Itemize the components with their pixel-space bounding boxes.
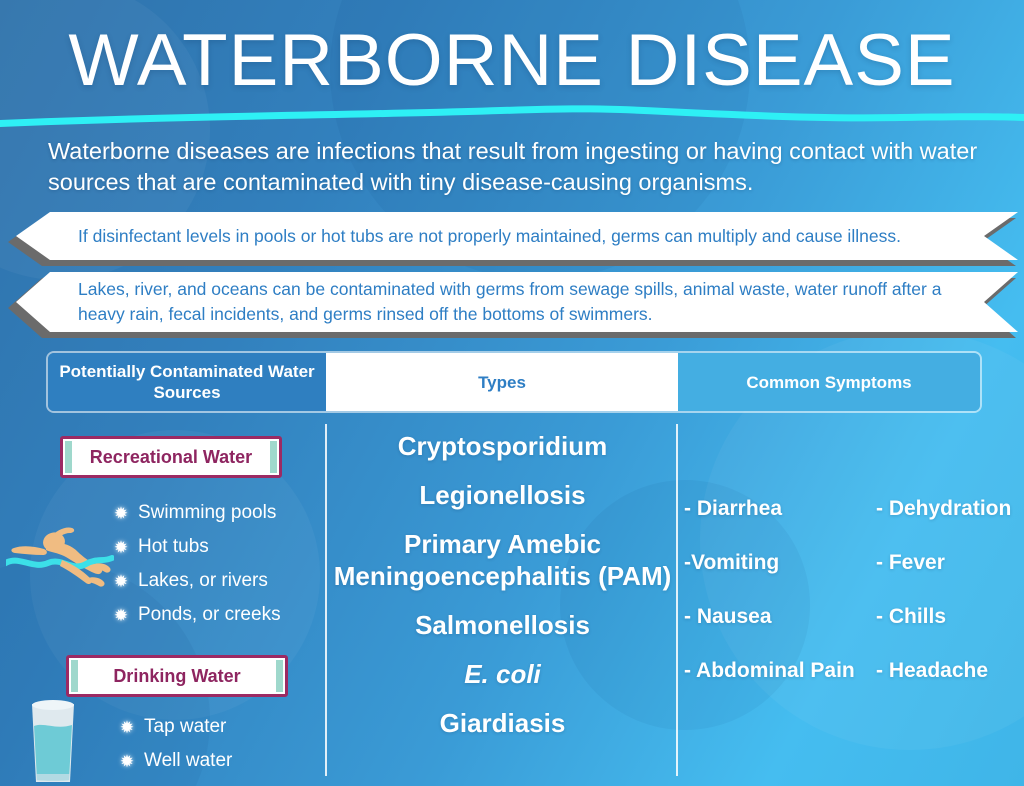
list-item-label: Hot tubs xyxy=(138,530,209,564)
list-item: ✹ Well water xyxy=(118,744,232,778)
arrow-banner-2-text: Lakes, river, and oceans can be contamin… xyxy=(8,272,1016,332)
source-list-drinking: ✹ Tap water ✹ Well water xyxy=(118,710,232,778)
symptom-item: - Dehydration xyxy=(876,496,1024,522)
symptom-item: - Fever xyxy=(876,550,1024,576)
water-glass-icon xyxy=(26,700,80,786)
type-item: E. coli xyxy=(330,658,675,690)
column-divider-right xyxy=(676,424,678,776)
list-item: ✹ Tap water xyxy=(118,710,232,744)
wave-divider-icon xyxy=(0,104,1024,134)
symptom-item: - Chills xyxy=(876,604,1024,630)
symptom-item: - Headache xyxy=(876,658,1024,684)
category-label-text: Recreational Water xyxy=(90,447,252,468)
sparkle-bullet-icon: ✹ xyxy=(112,573,130,590)
category-label-drinking-water: Drinking Water xyxy=(66,655,288,697)
list-item-label: Lakes, or rivers xyxy=(138,564,268,598)
list-item-label: Tap water xyxy=(144,710,226,744)
arrow-banner-1: If disinfectant levels in pools or hot t… xyxy=(8,212,1016,260)
column-divider-left xyxy=(325,424,327,776)
infographic-page: WATERBORNE DISEASE Waterborne diseases a… xyxy=(0,0,1024,786)
type-item: Legionellosis xyxy=(330,479,675,511)
type-item: Cryptosporidium xyxy=(330,430,675,462)
list-item: ✹ Swimming pools xyxy=(112,496,281,530)
arrow-banner-1-text: If disinfectant levels in pools or hot t… xyxy=(8,212,1016,260)
sparkle-bullet-icon: ✹ xyxy=(118,753,136,770)
category-label-recreational-water: Recreational Water xyxy=(60,436,282,478)
list-item-label: Ponds, or creeks xyxy=(138,598,281,632)
list-item: ✹ Ponds, or creeks xyxy=(112,598,281,632)
sparkle-bullet-icon: ✹ xyxy=(112,607,130,624)
table-header-types: Types xyxy=(326,353,678,411)
symptoms-column: - Diarrhea - Dehydration -Vomiting - Fev… xyxy=(684,496,1024,684)
symptom-item: - Nausea xyxy=(684,604,876,630)
type-item: Primary Amebic Meningoencephalitis (PAM) xyxy=(330,528,675,592)
list-item-label: Swimming pools xyxy=(138,496,276,530)
page-title: WATERBORNE DISEASE xyxy=(0,22,1024,100)
category-label-text: Drinking Water xyxy=(113,666,240,687)
table-header-common-symptoms: Common Symptoms xyxy=(678,353,980,411)
type-item: Giardiasis xyxy=(330,707,675,739)
source-list-recreational: ✹ Swimming pools ✹ Hot tubs ✹ Lakes, or … xyxy=(112,496,281,632)
table-header-row: Potentially Contaminated Water Sources T… xyxy=(48,353,980,411)
types-column: Cryptosporidium Legionellosis Primary Am… xyxy=(330,430,675,756)
table-header-water-sources: Potentially Contaminated Water Sources xyxy=(48,353,326,411)
symptom-item: -Vomiting xyxy=(684,550,876,576)
symptom-item: - Diarrhea xyxy=(684,496,876,522)
sparkle-bullet-icon: ✹ xyxy=(112,505,130,522)
sparkle-bullet-icon: ✹ xyxy=(112,539,130,556)
arrow-banner-2: Lakes, river, and oceans can be contamin… xyxy=(8,272,1016,332)
sparkle-bullet-icon: ✹ xyxy=(118,719,136,736)
type-item: Salmonellosis xyxy=(330,609,675,641)
symptom-item: - Abdominal Pain xyxy=(684,658,876,684)
list-item: ✹ Lakes, or rivers xyxy=(112,564,281,598)
swimmer-icon xyxy=(6,512,114,596)
intro-paragraph: Waterborne diseases are infections that … xyxy=(48,136,978,198)
list-item: ✹ Hot tubs xyxy=(112,530,281,564)
list-item-label: Well water xyxy=(144,744,232,778)
